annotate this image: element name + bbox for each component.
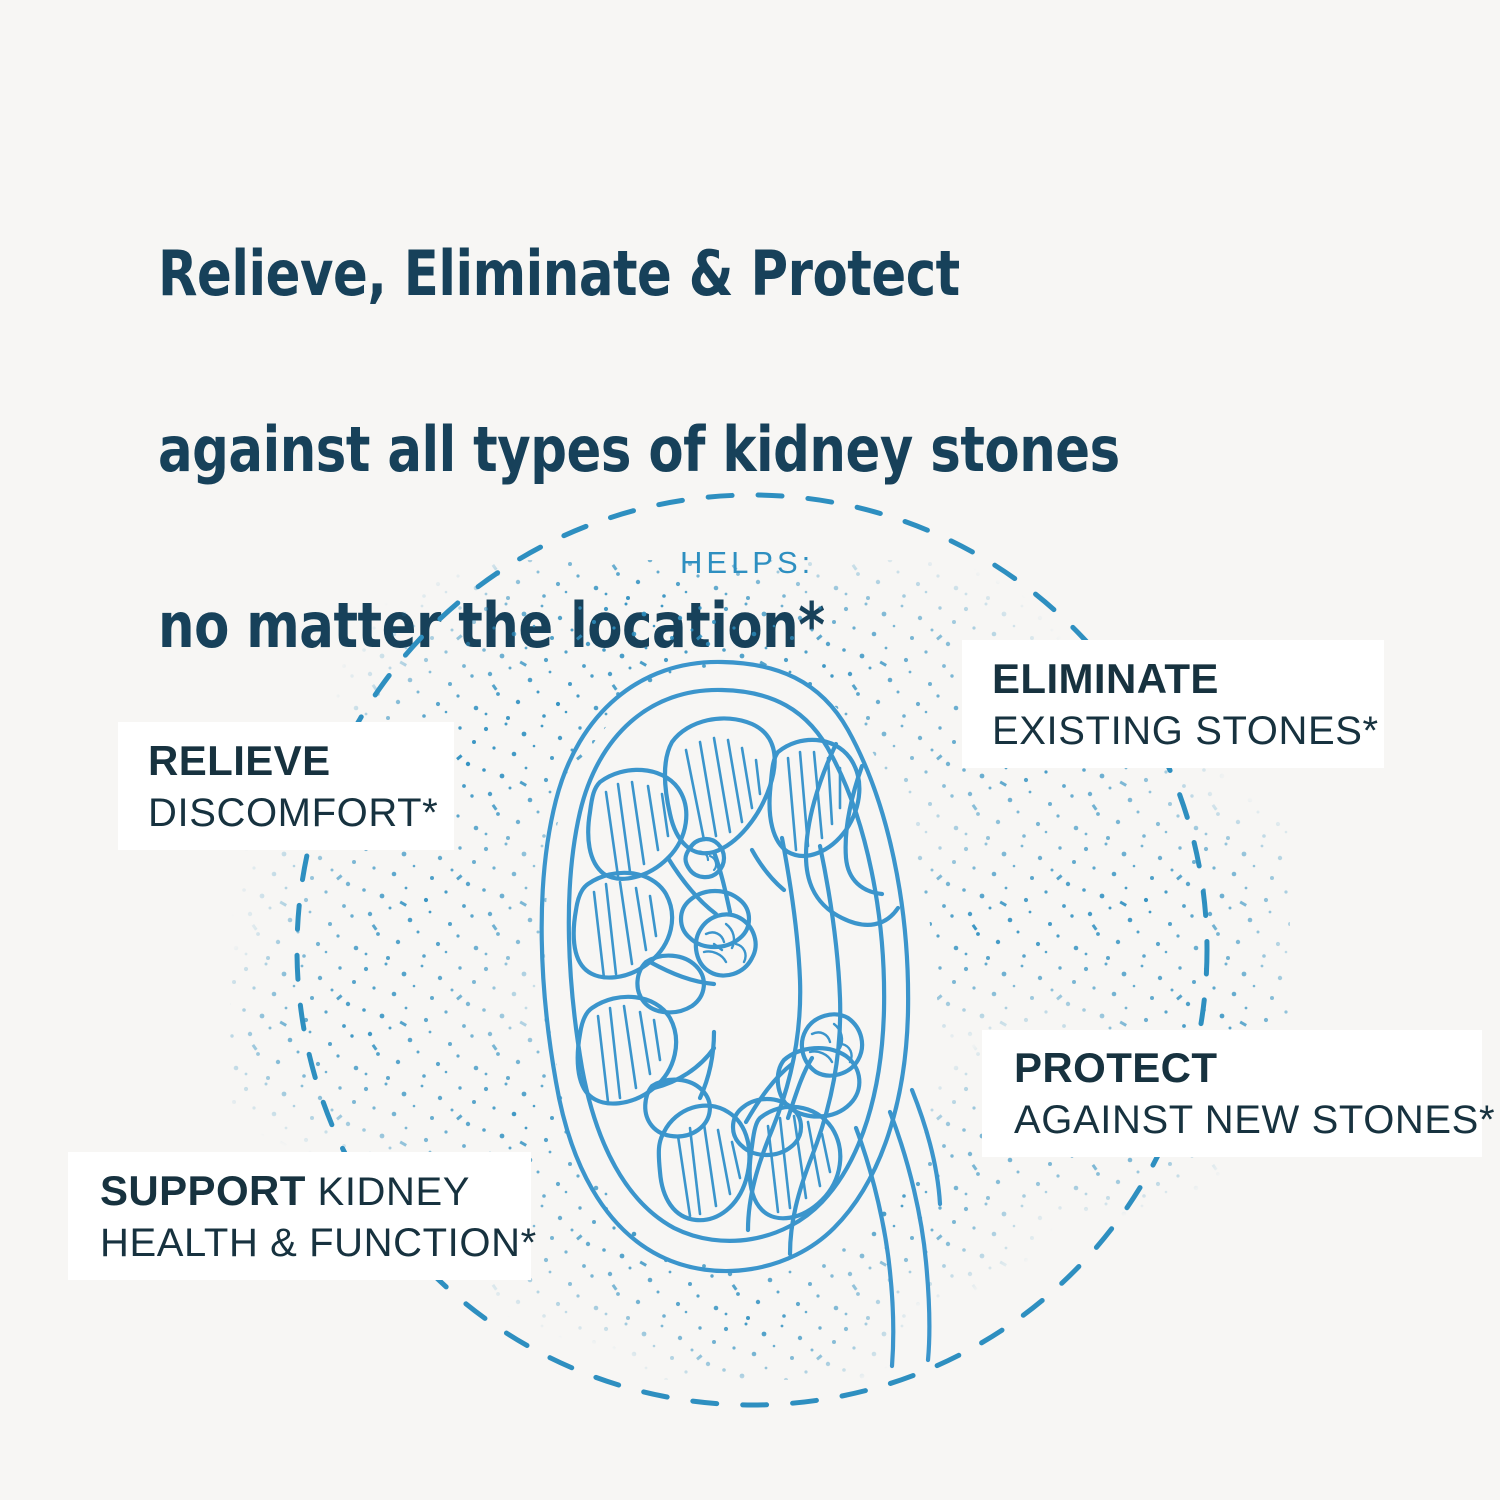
callout-eliminate-subtitle: EXISTING STONES* bbox=[992, 711, 1384, 751]
callout-relieve[interactable]: RELIEVE DISCOMFORT* bbox=[118, 722, 454, 850]
callout-protect-title: PROTECT bbox=[1014, 1047, 1482, 1089]
callout-protect[interactable]: PROTECT AGAINST NEW STONES* bbox=[982, 1030, 1482, 1157]
callout-support-title-strong: SUPPORT bbox=[100, 1167, 306, 1214]
callout-relieve-title: RELIEVE bbox=[148, 740, 454, 782]
callout-eliminate-title: ELIMINATE bbox=[992, 658, 1384, 700]
callout-relieve-subtitle: DISCOMFORT* bbox=[148, 793, 454, 833]
callout-eliminate[interactable]: ELIMINATE EXISTING STONES* bbox=[962, 640, 1384, 768]
callout-protect-subtitle: AGAINST NEW STONES* bbox=[1014, 1100, 1482, 1140]
callout-support-title-light: KIDNEY bbox=[306, 1170, 470, 1214]
callout-support-title: SUPPORT KIDNEY bbox=[100, 1170, 531, 1212]
callout-support-subtitle: HEALTH & FUNCTION* bbox=[100, 1223, 531, 1263]
callout-support[interactable]: SUPPORT KIDNEY HEALTH & FUNCTION* bbox=[68, 1152, 531, 1280]
infographic-page: Relieve, Eliminate & Protect against all… bbox=[0, 0, 1500, 1500]
helps-label: HELPS: bbox=[680, 545, 814, 581]
